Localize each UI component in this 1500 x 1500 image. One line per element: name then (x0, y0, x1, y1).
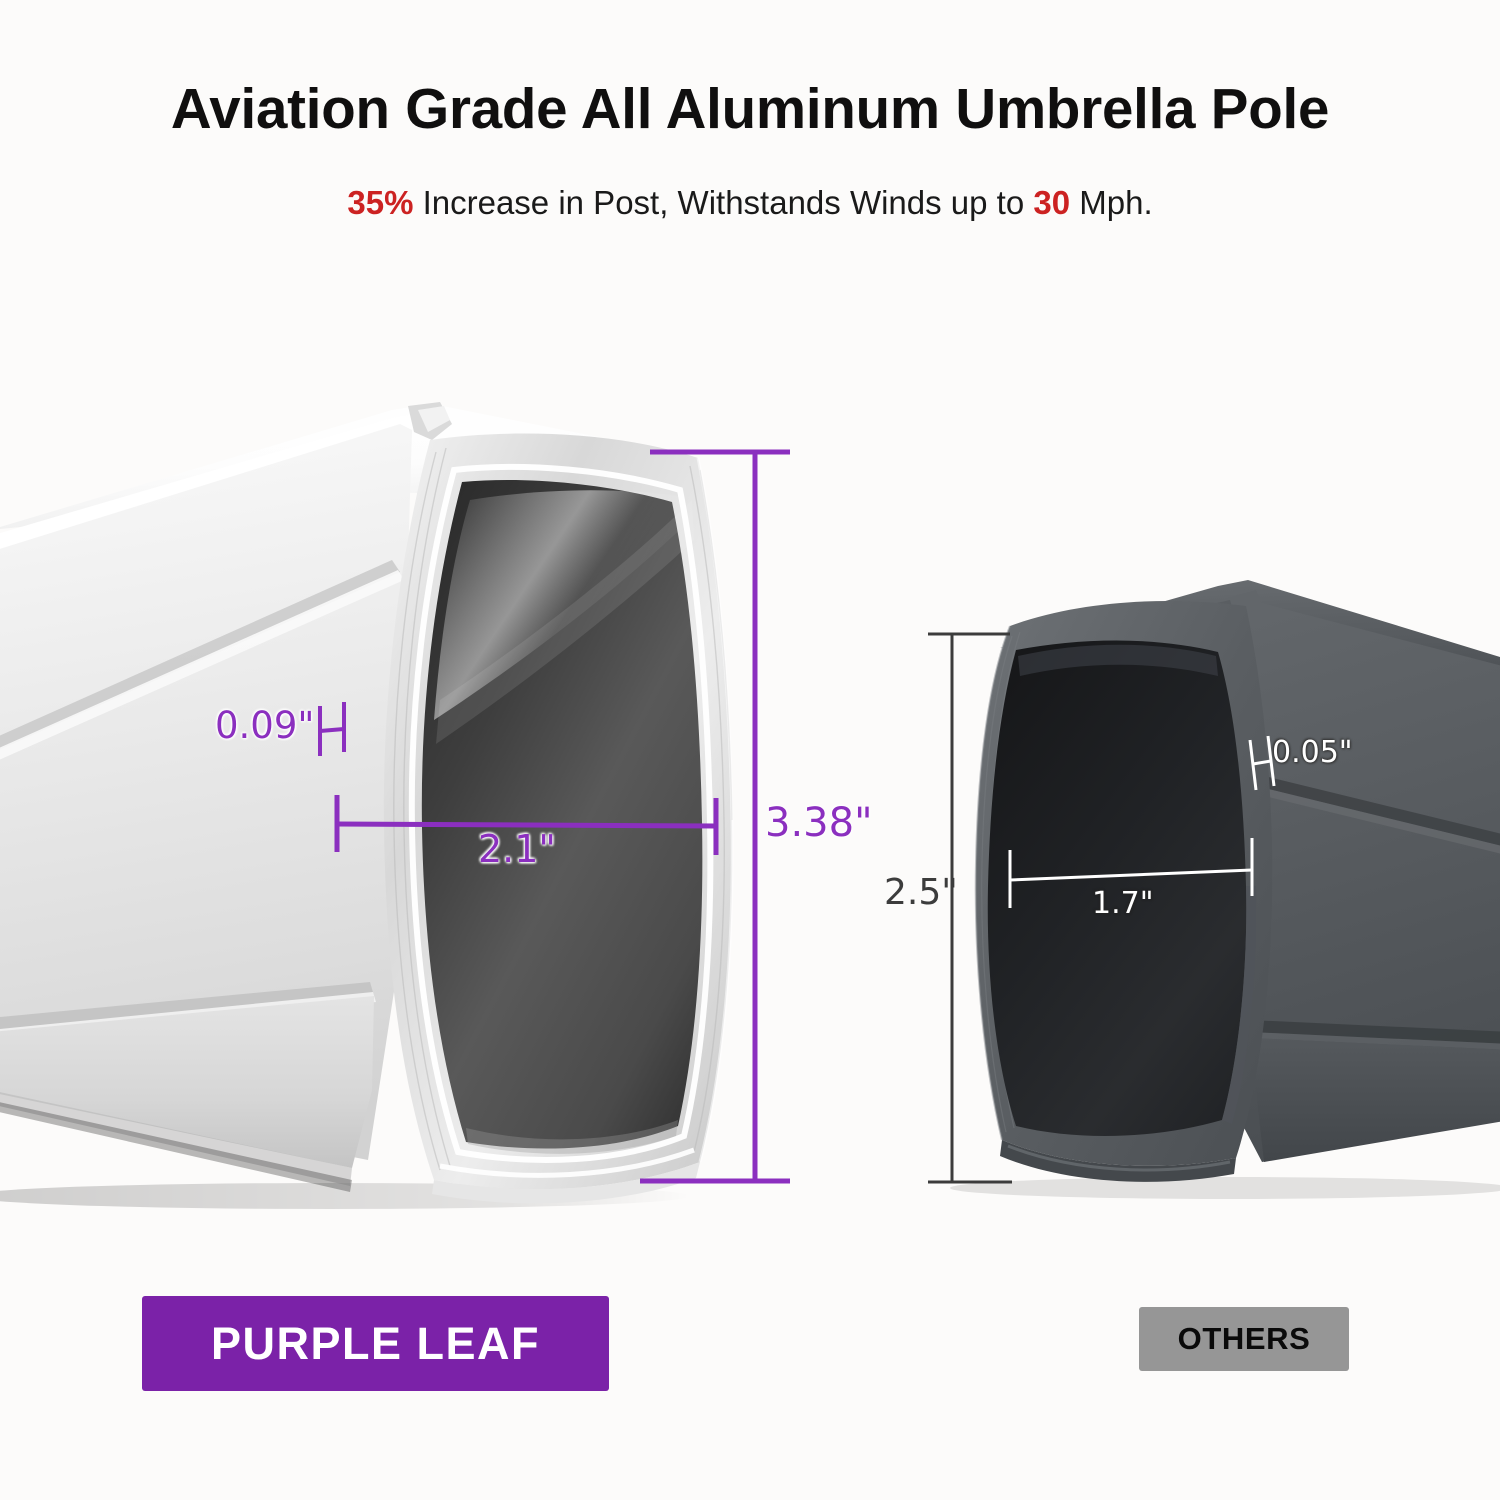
badge-purple-leaf: PURPLE LEAF (142, 1296, 609, 1391)
dim-label-height-left: 3.38" (765, 800, 872, 846)
dim-label-wall-thickness-left: 0.09" (215, 704, 314, 747)
dim-label-width-left: 2.1" (478, 827, 556, 871)
dim-label-width-right: 1.7" (1092, 886, 1154, 921)
badge-others: OTHERS (1139, 1307, 1349, 1371)
product-comparison-stage: 0.09" 2.1" 3.38" 2.5" 1.7" 0.05" PURPLE … (0, 0, 1500, 1500)
dim-label-wall-thickness-right: 0.05" (1272, 735, 1353, 770)
dim-label-height-right: 2.5" (884, 872, 958, 913)
right-pole-others (950, 580, 1500, 1199)
left-pole-purple-leaf (0, 402, 732, 1209)
